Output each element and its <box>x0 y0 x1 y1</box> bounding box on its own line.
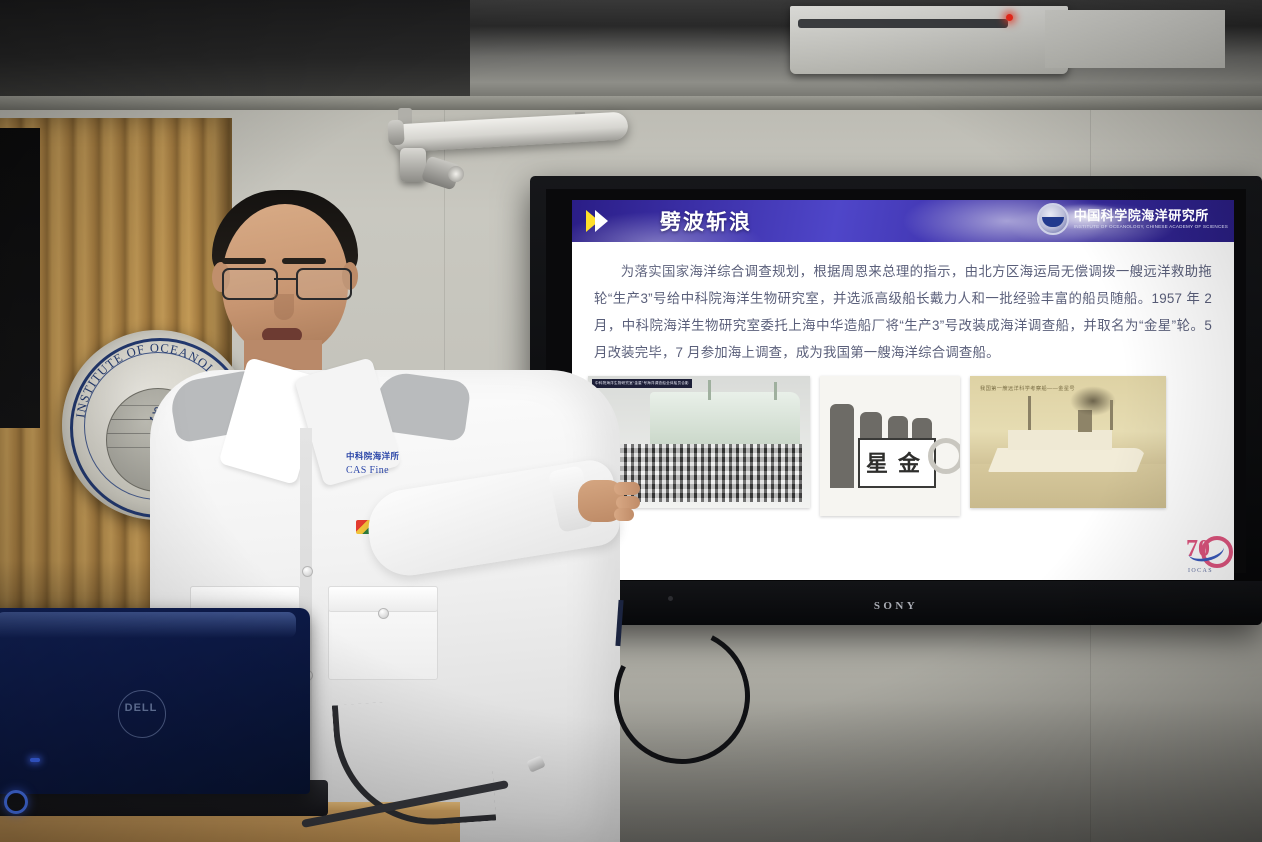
finger <box>614 482 640 495</box>
slide-header: 劈波斩浪 中国科学院海洋研究所 INSTITUTE OF OCEANOLOGY,… <box>572 200 1234 242</box>
laptop-lid-sheen <box>0 612 296 638</box>
laptop-status-led-icon <box>30 758 40 762</box>
institute-logo-mark-icon <box>1037 203 1069 235</box>
presenter-eyebrow <box>282 258 326 264</box>
ship-mast <box>774 382 777 400</box>
ac-power-led-icon <box>1006 14 1013 21</box>
jacket-button <box>302 566 313 577</box>
ceiling-dark-section <box>0 0 470 96</box>
chevron-group <box>586 210 608 232</box>
slide-body: 为落实国家海洋综合调查规划，根据周恩来总理的指示，由北方区海运局无偿调拨一艘远洋… <box>572 242 1234 366</box>
eyeglass-lens <box>222 268 278 300</box>
ac-unit-secondary-panel <box>1045 10 1225 68</box>
ac-vent <box>798 19 1008 28</box>
jacket-badge-cn: 中科院海洋所 <box>346 450 420 462</box>
dark-doorway <box>0 128 40 428</box>
vessel-superstructure <box>1008 430 1112 450</box>
presentation-slide[interactable]: 劈波斩浪 中国科学院海洋研究所 INSTITUTE OF OCEANOLOGY,… <box>572 200 1234 580</box>
spotlight-lens-icon <box>448 166 464 182</box>
laptop-brand-label: DELL <box>118 702 164 714</box>
jacket-badge-en: CAS Fine <box>346 465 420 476</box>
presenter-eyebrow <box>222 258 266 264</box>
presenter-hand-pointing <box>574 468 640 530</box>
dell-logo-ring-icon <box>118 690 166 738</box>
finger <box>614 508 634 521</box>
institute-logo: 中国科学院海洋研究所 INSTITUTE OF OCEANOLOGY, CHIN… <box>1037 203 1228 235</box>
slide-title: 劈波斩浪 <box>660 206 752 236</box>
anniversary-badge: 70 IOCAS <box>1186 534 1228 574</box>
slide-paragraph: 为落实国家海洋综合调查规划，根据周恩来总理的指示，由北方区海运局无偿调拨一艘远洋… <box>594 258 1212 366</box>
crew-with-nameplate-photo: 星 金 <box>820 376 960 516</box>
vessel-mast <box>1110 400 1113 430</box>
tv-brand-label: SONY <box>530 600 1262 612</box>
ship-mast <box>708 380 711 400</box>
vessel-mast <box>1028 396 1031 430</box>
eyeglass-lens <box>296 268 352 300</box>
nameplate-char-star: 星 <box>866 446 888 478</box>
presenter-nose <box>274 294 294 320</box>
eyeglass-bridge <box>274 278 296 280</box>
ceiling-air-conditioner <box>790 6 1068 74</box>
slide-photo-row: 中科院海洋生物研究室“金星”号海洋调查船全体船员合影 星 金 <box>588 376 1218 516</box>
jacket-pocket <box>328 586 438 680</box>
jacket-embroidered-badge: 中科院海洋所 CAS Fine <box>346 450 420 484</box>
pocket-button <box>378 608 389 619</box>
laptop-power-led-icon <box>4 790 28 814</box>
conference-room-scene: ⚓ INSTITUTE OF OCEANOLOGY, CHINESE ACADE… <box>0 0 1262 842</box>
nameplate-char-gold: 金 <box>898 446 920 478</box>
golden-star-vessel-photo: 我国第一艘远洋科学考察船——金星号 <box>970 376 1166 508</box>
institute-logo-cn: 中国科学院海洋研究所 <box>1074 209 1228 222</box>
anniversary-label: IOCAS <box>1188 568 1213 574</box>
crew-member <box>830 404 854 488</box>
chevron-right-icon <box>595 210 608 232</box>
life-ring-icon <box>928 438 960 474</box>
institute-logo-en: INSTITUTE OF OCEANOLOGY, CHINESE ACADEMY… <box>1074 225 1228 230</box>
photo-caption: 我国第一艘远洋科学考察船——金星号 <box>980 385 1075 392</box>
screen-end-cap <box>387 120 404 146</box>
vessel-hull <box>988 448 1146 472</box>
